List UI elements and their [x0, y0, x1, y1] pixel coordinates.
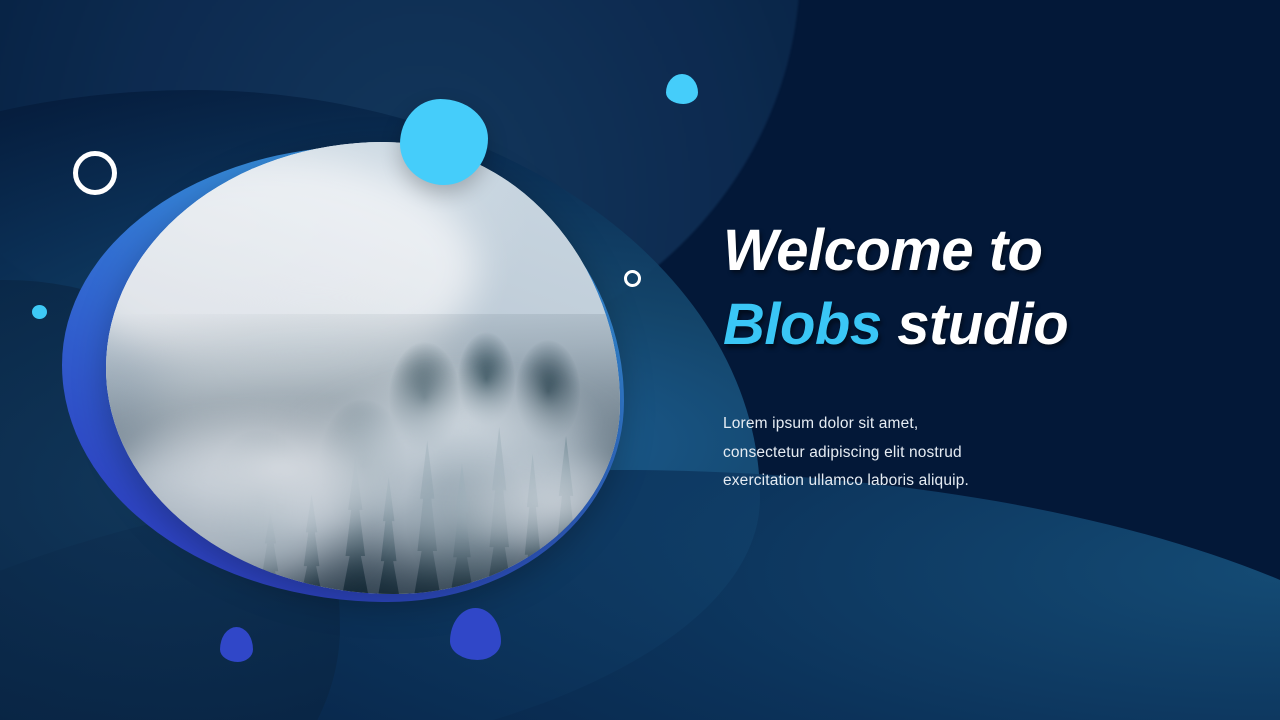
slide-canvas: Welcome to Blobs studio Lorem ipsum dolo…	[0, 0, 1280, 720]
headline-line-2: Blobs studio	[723, 288, 1203, 362]
headline-suffix: studio	[882, 292, 1069, 357]
text-column: Welcome to Blobs studio Lorem ipsum dolo…	[723, 214, 1203, 496]
brand-name: Blobs	[723, 292, 882, 357]
headline-line-1: Welcome to	[723, 218, 1042, 283]
body-line: consectetur adipiscing elit nostrud	[723, 439, 1203, 468]
royal-blue-drop-large	[450, 608, 501, 660]
white-outline-circle-large	[73, 151, 117, 195]
body-line: exercitation ullamco laboris aliquip.	[723, 467, 1203, 496]
white-outline-circle-small	[624, 270, 641, 287]
cyan-teardrop-blob	[666, 74, 698, 104]
cyan-dot	[32, 305, 47, 319]
artwork-cluster	[0, 0, 720, 720]
body-copy: Lorem ipsum dolor sit amet, consectetur …	[723, 410, 1203, 496]
photo-color-tint	[106, 142, 620, 594]
body-line: Lorem ipsum dolor sit amet,	[723, 410, 1203, 439]
misty-forest-photo	[106, 142, 620, 594]
page-title: Welcome to Blobs studio	[723, 214, 1203, 362]
royal-blue-drop-small	[220, 627, 253, 662]
